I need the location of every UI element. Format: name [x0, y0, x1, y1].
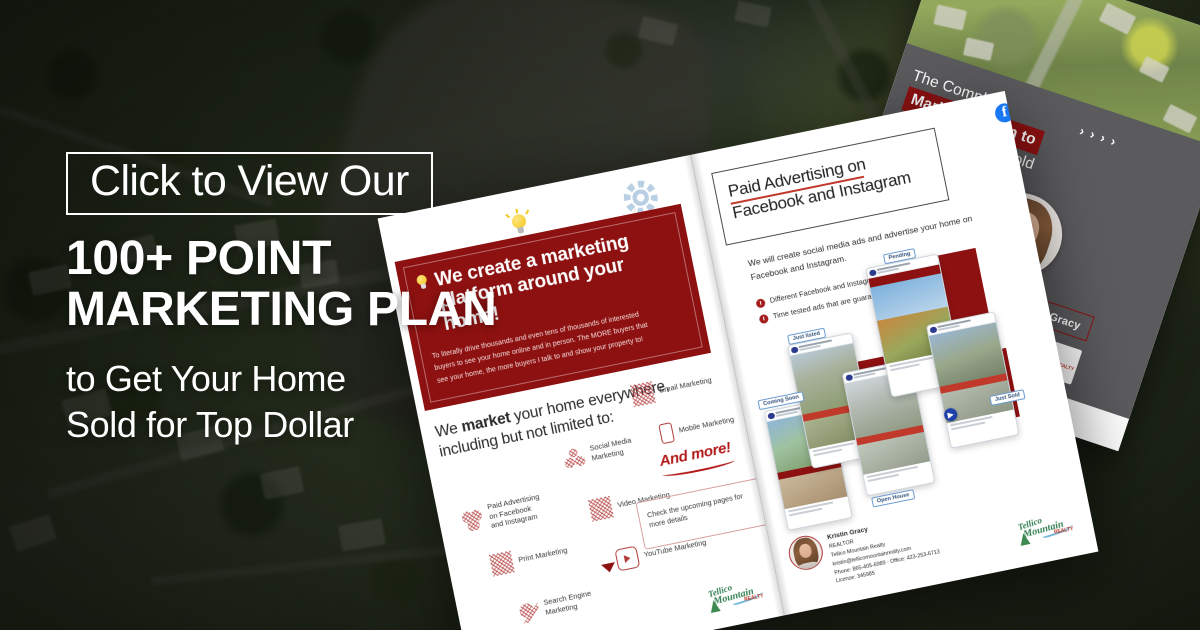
down-triangle-icon [601, 562, 617, 574]
search-engine-icon [515, 598, 541, 624]
tellico-logo-left-page: Tellico Mountain REALTY [705, 575, 768, 616]
tellico-logo-mark: Tellico Mountain REALTY [705, 575, 768, 616]
subheadline-line-2: Sold for Top Dollar [66, 403, 536, 447]
channel-label: Paid Advertising on Facebook and Instagr… [486, 492, 544, 531]
channel-search-engine: Search Engine Marketing [515, 581, 629, 625]
agent-info: Kristin Gracy REALTOR Tellico Mountain R… [826, 510, 943, 587]
channel-paid-advertising: Paid Advertising on Facebook and Instagr… [459, 486, 575, 537]
cover-rooftop [1139, 56, 1170, 83]
channel-label: Email Marketing [659, 375, 713, 395]
check-bullet-icon [755, 298, 766, 309]
cover-rooftop [963, 37, 994, 61]
cover-rooftop [933, 4, 967, 30]
channel-label: Mobile Marketing [678, 415, 735, 436]
headline-line-2: MARKETING PLAN [66, 285, 536, 336]
subheadline-line-1: to Get Your Home [66, 357, 536, 401]
mobile-marketing-icon [658, 422, 675, 444]
cta-label: Click to View Our [90, 159, 409, 204]
youtube-icon [614, 546, 640, 572]
channel-print-marketing: Print Marketing [489, 533, 601, 576]
check-bullet-icon [759, 314, 770, 325]
channel-label: Social Media Marketing [589, 436, 634, 463]
email-marketing-icon [630, 381, 656, 407]
video-marketing-icon [588, 496, 614, 522]
channel-label: Search Engine Marketing [543, 589, 594, 618]
ad-mockup-just-sold [926, 311, 1020, 448]
facebook-instagram-ads-icon [460, 507, 486, 533]
gear-icon [627, 183, 655, 211]
agent-avatar [786, 532, 826, 572]
channel-label: Print Marketing [518, 546, 569, 565]
tellico-logo-right-page: Tellico Mountain REALTY [1014, 508, 1077, 549]
tellico-logo-mark: Tellico Mountain REALTY [1014, 508, 1077, 549]
headline-block: Click to View Our 100+ POINT MARKETING P… [66, 152, 536, 447]
cover-rooftop [1163, 104, 1198, 133]
headline-line-1: 100+ POINT [66, 234, 536, 285]
cover-rooftop [1099, 3, 1137, 35]
social-media-icon [561, 444, 587, 470]
print-marketing-icon [489, 551, 515, 577]
click-to-view-button[interactable]: Click to View Our [66, 152, 433, 215]
